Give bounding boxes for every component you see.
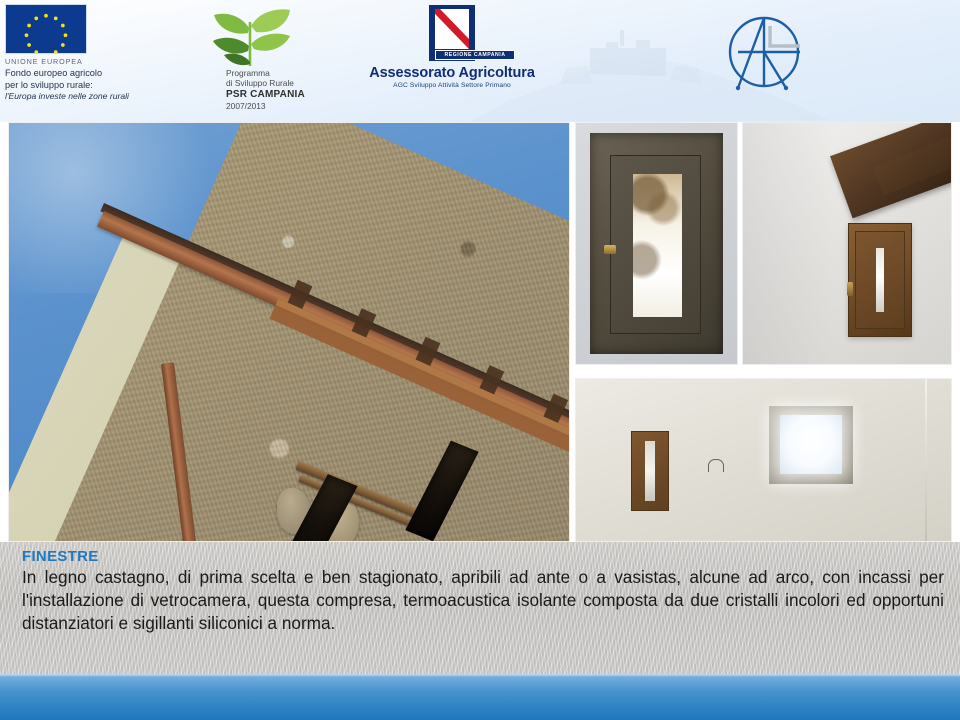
eu-logo-line4: l'Europa investe nelle zone rurali bbox=[5, 91, 185, 102]
eu-logo-line1: UNIONE EUROPEA bbox=[5, 57, 185, 67]
brass-window-handle bbox=[604, 245, 616, 254]
wall-corner-crease bbox=[925, 379, 927, 542]
bright-window-opening bbox=[769, 406, 853, 484]
window-glass bbox=[780, 415, 842, 474]
window-glass bbox=[633, 174, 682, 317]
assessorato-title: Assessorato Agricoltura bbox=[362, 65, 542, 81]
dark-wood-window-photo bbox=[575, 122, 738, 365]
wall-hook bbox=[708, 459, 724, 472]
regione-shield-caption: REGIONE CAMPANIA bbox=[435, 50, 515, 60]
psr-logo-line3: PSR CAMPANIA bbox=[226, 89, 320, 101]
eu-logo-line3: per lo sviluppo rurale: bbox=[5, 79, 185, 91]
window-sash bbox=[610, 155, 701, 334]
green-leaf-sprout-icon bbox=[204, 6, 300, 68]
slide-header: UNIONE EUROPEA Fondo europeo agricolo pe… bbox=[0, 0, 960, 122]
eu-logo-block: UNIONE EUROPEA Fondo europeo agricolo pe… bbox=[5, 4, 185, 102]
caption-title: FINESTRE bbox=[22, 548, 944, 565]
eu-logo-line2: Fondo europeo agricolo bbox=[5, 67, 185, 79]
psr-logo-line2: di Sviluppo Rurale bbox=[226, 78, 320, 88]
interior-two-windows-photo bbox=[575, 378, 952, 542]
regione-logo-block: REGIONE CAMPANIA Assessorato Agricoltura… bbox=[362, 5, 542, 89]
assessorato-subtitle: AGC Sviluppo Attività Settore Primano bbox=[362, 82, 542, 89]
wooden-eave-beams bbox=[9, 123, 570, 542]
regione-campania-shield-icon: REGIONE CAMPANIA bbox=[429, 5, 475, 61]
caption-panel: FINESTRE In legno castagno, di prima sce… bbox=[0, 542, 960, 674]
bottom-accent-bar bbox=[0, 674, 960, 720]
caption-body: In legno castagno, di prima scelta e ben… bbox=[22, 566, 944, 635]
presentation-slide: UNIONE EUROPEA Fondo europeo agricolo pe… bbox=[0, 0, 960, 720]
roof-eaves-stone-wall-photo bbox=[8, 122, 570, 542]
window-light-slit bbox=[645, 441, 655, 501]
eu-flag-icon bbox=[5, 4, 87, 54]
psr-logo-line4: 2007/2013 bbox=[226, 101, 320, 111]
architect-circle-compass-icon bbox=[716, 8, 808, 100]
psr-logo-line1: Programma bbox=[226, 68, 320, 78]
window-handle bbox=[847, 282, 853, 296]
small-chestnut-window bbox=[631, 431, 669, 511]
chestnut-window bbox=[848, 223, 912, 337]
window-light-slit bbox=[876, 248, 884, 312]
interior-window-beam-photo bbox=[742, 122, 952, 365]
window-outer-frame bbox=[590, 133, 723, 354]
psr-logo-block: Programma di Sviluppo Rurale PSR CAMPANI… bbox=[200, 6, 320, 112]
